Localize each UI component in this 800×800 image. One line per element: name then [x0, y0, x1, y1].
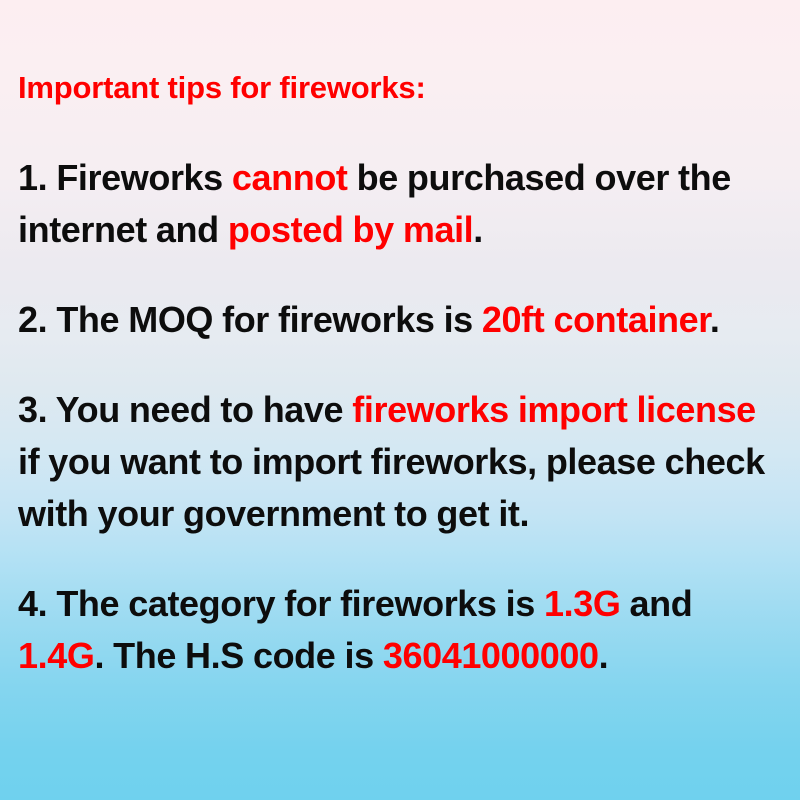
body-text: 4. The category for fireworks is — [18, 583, 544, 624]
tip-item-3: 3. You need to have fireworks import lic… — [18, 384, 778, 540]
body-text: 3. You need to have — [18, 389, 352, 430]
tips-list: 1. Fireworks cannot be purchased over th… — [18, 152, 778, 682]
page-title: Important tips for fireworks: — [18, 70, 426, 106]
body-text: if you want to import fireworks, please … — [18, 441, 765, 534]
body-text: and — [620, 583, 692, 624]
highlighted-text: 1.3G — [544, 583, 620, 624]
body-text: . The H.S code is — [94, 635, 382, 676]
highlighted-text: fireworks import license — [352, 389, 756, 430]
tip-item-1: 1. Fireworks cannot be purchased over th… — [18, 152, 778, 256]
body-text: . — [599, 635, 609, 676]
body-text: 1. Fireworks — [18, 157, 232, 198]
highlighted-text: cannot — [232, 157, 348, 198]
tip-item-2: 2. The MOQ for fireworks is 20ft contain… — [18, 294, 778, 346]
tip-item-4: 4. The category for fireworks is 1.3G an… — [18, 578, 778, 682]
body-text: 2. The MOQ for fireworks is — [18, 299, 482, 340]
fireworks-tips-poster: Important tips for fireworks: 1. Firewor… — [0, 0, 800, 800]
body-text: . — [710, 299, 720, 340]
highlighted-text: 1.4G — [18, 635, 94, 676]
body-text: . — [473, 209, 483, 250]
highlighted-text: posted by mail — [228, 209, 473, 250]
highlighted-text: 20ft container — [482, 299, 710, 340]
highlighted-text: 36041000000 — [383, 635, 599, 676]
